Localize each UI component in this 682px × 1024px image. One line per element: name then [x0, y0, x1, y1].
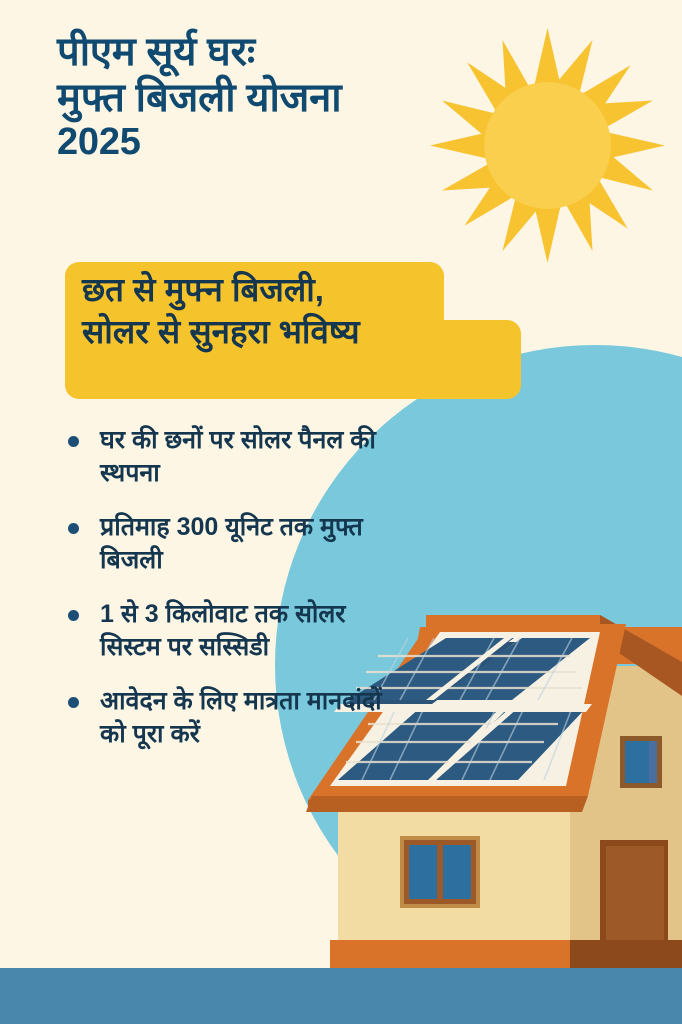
subtitle-line-2: सोलर से सुनहरा भविष्य — [82, 311, 522, 353]
bullet-dot-icon — [68, 436, 79, 447]
bullet-dot-icon — [68, 697, 79, 708]
list-item-label: घर की छनों पर सोलर पैनल की स्थपना — [100, 424, 382, 489]
list-item: प्रतिमाह 300 यूनिट तक मुफ्त बिजली — [62, 511, 382, 576]
bullet-dot-icon — [68, 610, 79, 621]
title-year: 2025 — [57, 121, 497, 164]
subtitle-banner: छत से मुफ्न बिजली, सोलर से सुनहरा भविष्य — [65, 262, 521, 399]
infographic-poster: पीएम सूर्य घरः मुफ्त बिजली योजना 2025 छत… — [0, 0, 682, 1024]
bullet-dot-icon — [68, 523, 79, 534]
list-item-label: 1 से 3 किलोवाट तक सोलर सिस्टम पर सस्सिडी — [100, 598, 382, 663]
front-door — [600, 840, 668, 940]
house-foundation — [330, 940, 570, 968]
front-window — [400, 836, 480, 908]
benefits-list: घर की छनों पर सोलर पैनल की स्थपना प्रतिम… — [62, 424, 382, 750]
list-item: 1 से 3 किलोवाट तक सोलर सिस्टम पर सस्सिडी — [62, 598, 382, 663]
subtitle-text: छत से मुफ्न बिजली, सोलर से सुनहरा भविष्य — [82, 269, 522, 353]
subtitle-line-1: छत से मुफ्न बिजली, — [82, 269, 522, 311]
title-line-2: मुफ्त बिजली योजना — [57, 76, 497, 122]
list-item-label: आवेदन के लिए मात्रता मानदांदों को पूरा क… — [100, 685, 382, 750]
poster-title: पीएम सूर्य घरः मुफ्त बिजली योजना 2025 — [57, 30, 497, 165]
gable-window — [620, 736, 662, 788]
roof-edge — [306, 796, 588, 812]
list-item-label: प्रतिमाह 300 यूनिट तक मुफ्त बिजली — [100, 511, 382, 576]
list-item: घर की छनों पर सोलर पैनल की स्थपना — [62, 424, 382, 489]
title-line-1: पीएम सूर्य घरः — [57, 30, 497, 76]
list-item: आवेदन के लिए मात्रता मानदांदों को पूरा क… — [62, 685, 382, 750]
